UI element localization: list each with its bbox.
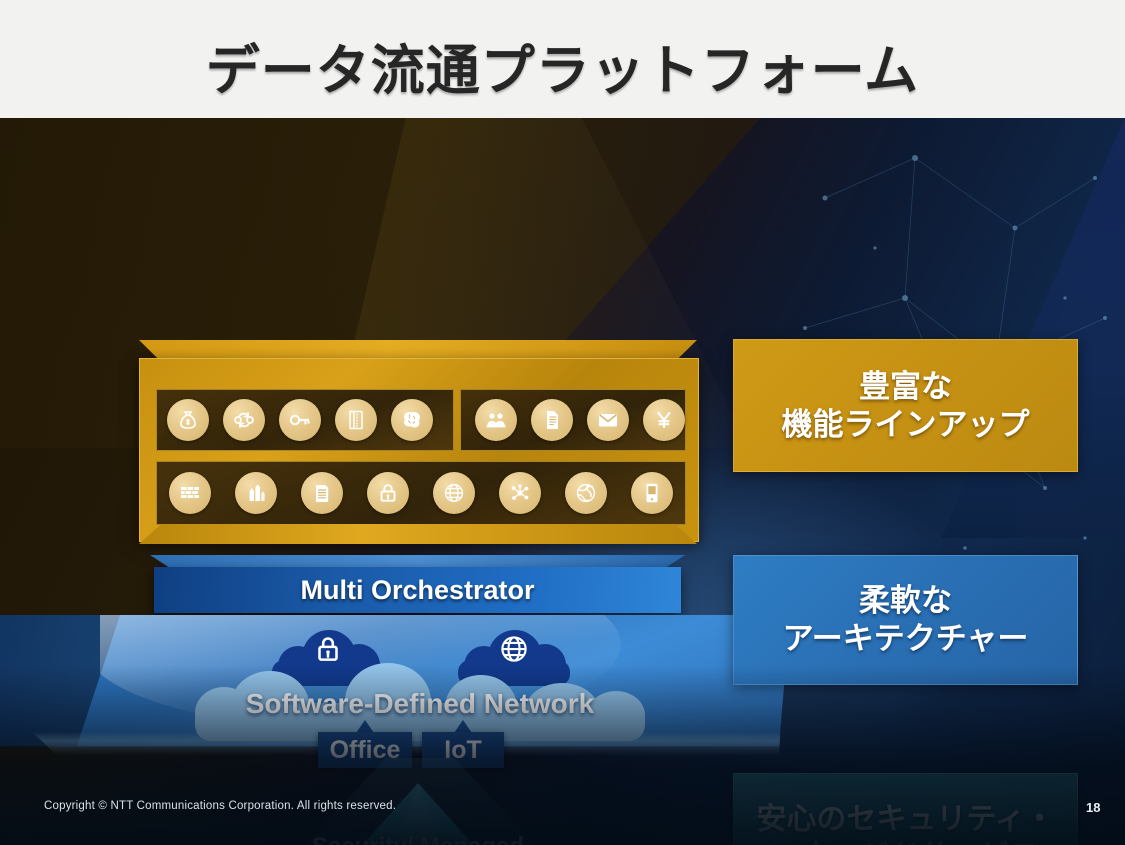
callout-blue-line2: アーキテクチャー bbox=[783, 620, 1029, 658]
firewall-icon[interactable] bbox=[169, 472, 211, 514]
icon-group-b bbox=[460, 389, 686, 451]
title-band: データ流通プラットフォーム bbox=[0, 0, 1125, 118]
mobile-device-icon[interactable] bbox=[631, 472, 673, 514]
gold-box-body bbox=[139, 358, 699, 542]
document-icon[interactable] bbox=[531, 399, 573, 441]
copyright-text: Copyright © NTT Communications Corporati… bbox=[44, 800, 396, 812]
slide-canvas: Multi Orchestrator bbox=[0, 118, 1125, 845]
lock-icon[interactable] bbox=[367, 472, 409, 514]
gold-box-bottom-bevel bbox=[139, 524, 697, 544]
global-network-icon[interactable] bbox=[565, 472, 607, 514]
callout-blue-line1: 柔軟な bbox=[783, 582, 1029, 620]
callout-gold-line1: 豊富な bbox=[782, 368, 1030, 406]
building-icon[interactable] bbox=[335, 399, 377, 441]
page-number: 18 bbox=[1086, 800, 1100, 815]
page-title: データ流通プラットフォーム bbox=[0, 26, 1125, 105]
function-lineup-box bbox=[139, 340, 697, 540]
icon-group-c bbox=[156, 461, 686, 525]
globe-grid-icon[interactable] bbox=[433, 472, 475, 514]
brain-icon[interactable] bbox=[391, 399, 433, 441]
multi-orchestrator-layer[interactable]: Multi Orchestrator bbox=[150, 555, 685, 613]
money-bag-icon[interactable] bbox=[167, 399, 209, 441]
analytics-arrows-icon[interactable] bbox=[235, 472, 277, 514]
bottom-shade bbox=[0, 665, 1125, 845]
yen-icon[interactable] bbox=[643, 399, 685, 441]
orchestrator-body: Multi Orchestrator bbox=[154, 567, 681, 613]
slide-root: データ流通プラットフォーム bbox=[0, 0, 1125, 845]
lock-icon bbox=[272, 632, 384, 666]
key-icon[interactable] bbox=[279, 399, 321, 441]
callout-card-function-lineup[interactable]: 豊富な 機能ラインアップ bbox=[733, 339, 1078, 472]
callout-gold-line2: 機能ラインアップ bbox=[782, 406, 1030, 444]
orchestrator-label: Multi Orchestrator bbox=[154, 567, 681, 613]
network-nodes-icon[interactable] bbox=[499, 472, 541, 514]
server-icon[interactable] bbox=[301, 472, 343, 514]
mail-icon[interactable] bbox=[587, 399, 629, 441]
users-icon[interactable] bbox=[475, 399, 517, 441]
icon-group-a bbox=[156, 389, 454, 451]
sync-arrows-icon[interactable] bbox=[223, 399, 265, 441]
background-tech-wedge bbox=[785, 118, 1125, 538]
globe-icon bbox=[458, 632, 570, 666]
